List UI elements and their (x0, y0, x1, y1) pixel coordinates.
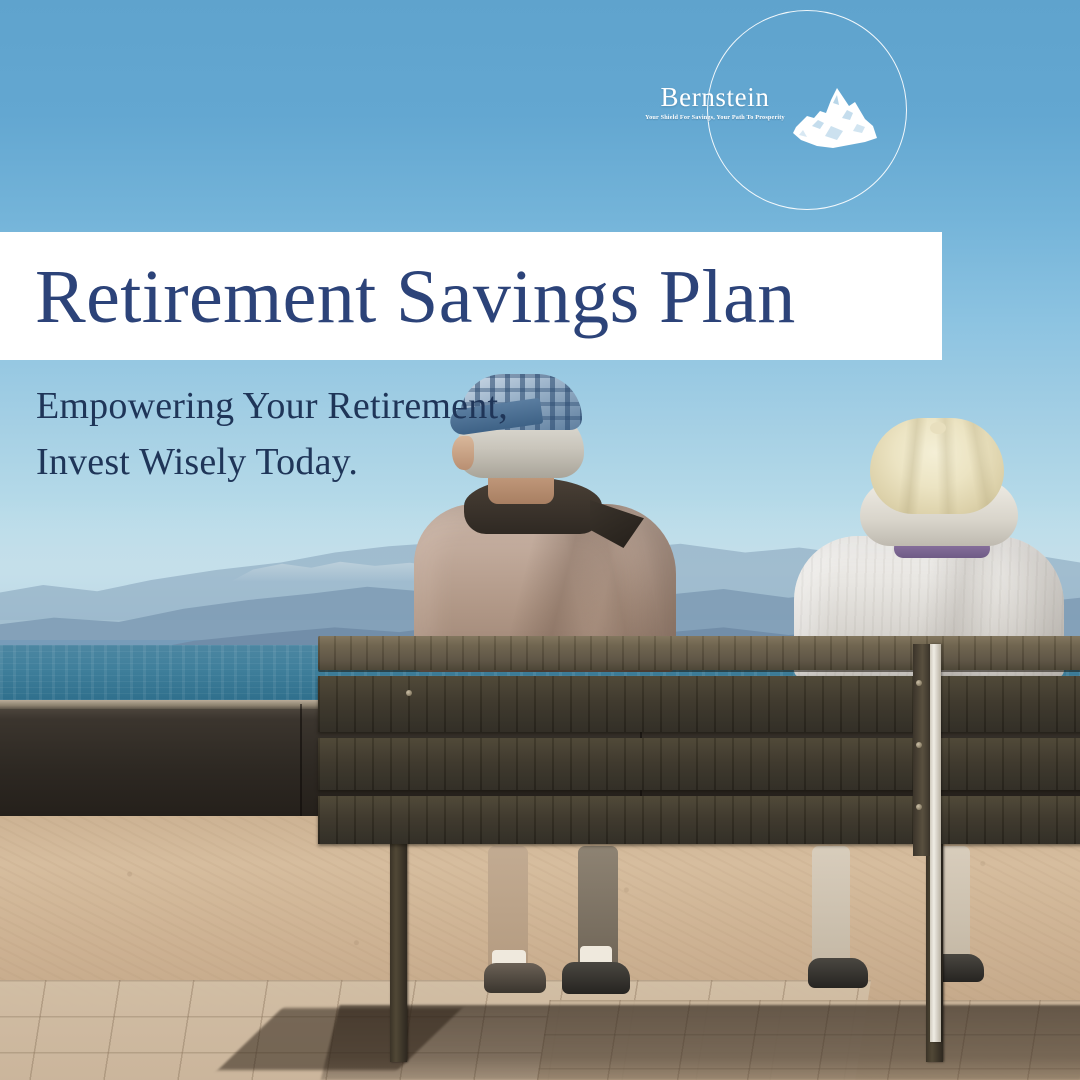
bench-bolt (916, 804, 922, 810)
retirement-savings-plan-poster: Bernstein Your Shield For Savings, Your … (0, 0, 1080, 1080)
bench-slat-middle (318, 738, 1080, 790)
brand-tagline: Your Shield For Savings, Your Path To Pr… (640, 113, 790, 122)
bench-metal-bracket (930, 644, 941, 1042)
subtitle-line-1: Empowering Your Retirement, (36, 378, 596, 434)
bench-bolt (916, 680, 922, 686)
subtitle-block: Empowering Your Retirement, Invest Wisel… (36, 378, 596, 490)
bench-slat-lower (318, 796, 1080, 844)
mountain-peak-icon (787, 86, 879, 158)
bench-bolt (916, 742, 922, 748)
background-photo (0, 0, 1080, 1080)
page-title: Retirement Savings Plan (35, 249, 796, 345)
wooden-bench (318, 636, 1080, 1056)
bench-leg-left (390, 832, 407, 1062)
bench-slat-upper (318, 676, 1080, 732)
bench-bolt (406, 690, 412, 696)
bench-backrest-top (318, 636, 1080, 670)
brand-wordmark: Bernstein (640, 80, 790, 114)
subtitle-line-2: Invest Wisely Today. (36, 434, 596, 490)
